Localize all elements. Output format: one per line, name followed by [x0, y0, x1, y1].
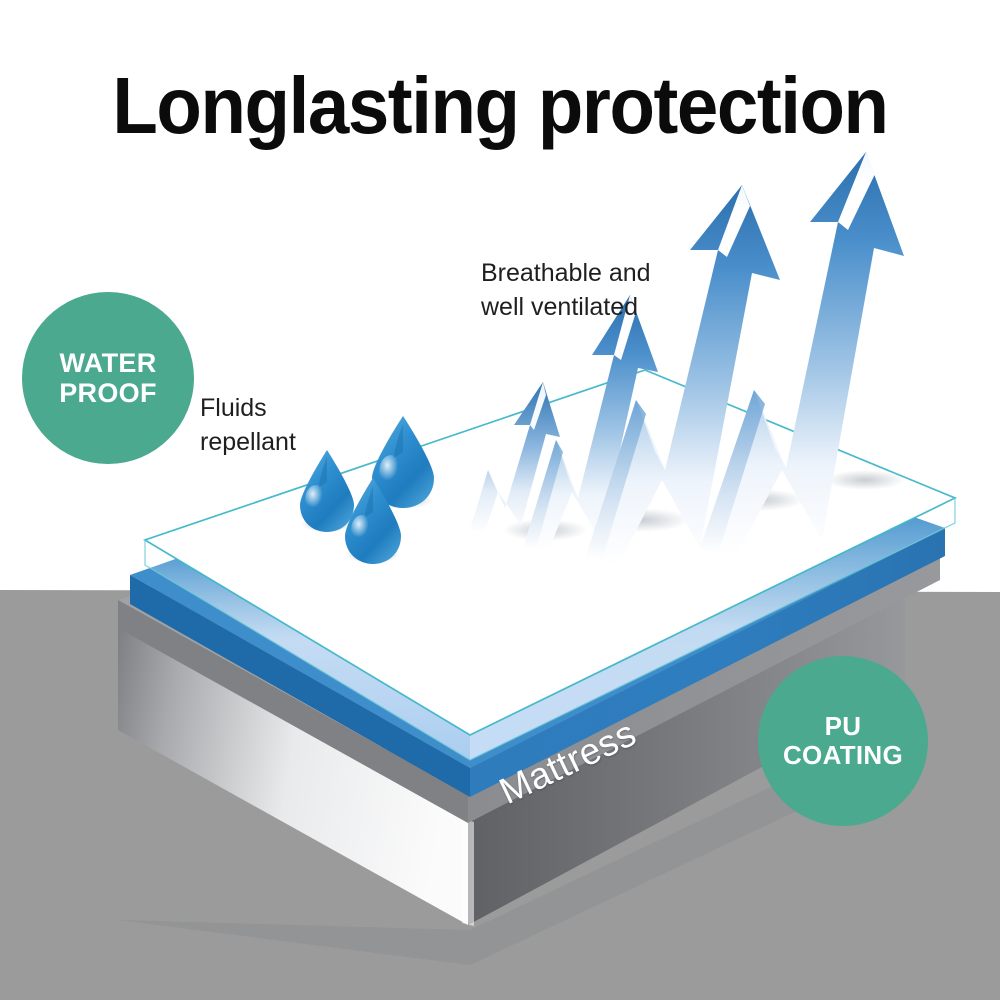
- page-title: Longlasting protection: [35, 66, 965, 146]
- droplet-highlight: [305, 485, 327, 515]
- badge-waterproof-line2: PROOF: [59, 378, 157, 408]
- badge-waterproof-line1: WATER: [60, 348, 157, 378]
- illustration-canvas: [0, 0, 1000, 1000]
- badge-waterproof: WATER PROOF: [22, 292, 194, 464]
- caption-breathable: Breathable and well ventilated: [481, 257, 651, 325]
- infographic-scene: Longlasting protection WATER PROOF PU CO…: [0, 0, 1000, 1000]
- caption-breathable-line2: well ventilated: [481, 291, 651, 325]
- droplet-highlight: [351, 515, 373, 545]
- badge-pu-coating: PU COATING: [758, 656, 928, 826]
- caption-fluids-line1: Fluids: [200, 392, 296, 426]
- badge-pu-coating-line2: COATING: [783, 741, 903, 770]
- caption-breathable-line1: Breathable and: [481, 257, 651, 291]
- caption-fluids-line2: repellant: [200, 426, 296, 460]
- droplet-highlight: [379, 455, 403, 489]
- arrow-shadow: [825, 470, 905, 490]
- badge-pu-coating-line1: PU: [825, 712, 862, 741]
- caption-fluids-repellant: Fluids repellant: [200, 392, 296, 460]
- mattress-corner-highlight: [462, 818, 474, 926]
